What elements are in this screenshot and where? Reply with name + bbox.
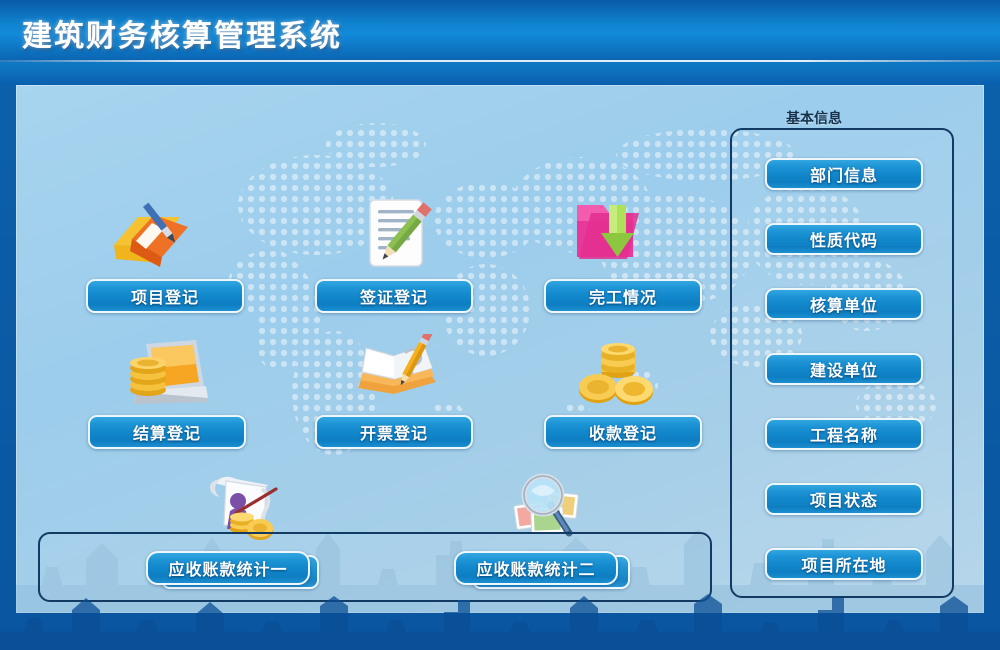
folder-download-icon — [561, 193, 653, 271]
button-label: 签证登记 — [360, 284, 428, 308]
button-label: 开票登记 — [360, 420, 428, 444]
sidebar-item-label: 部门信息 — [810, 162, 878, 186]
sidebar-item-project-status[interactable]: 项目状态 — [765, 483, 923, 515]
sidebar-item-construction-unit[interactable]: 建设单位 — [765, 353, 923, 385]
laptop-coins-icon — [120, 333, 212, 411]
receivables-statistics-box: 应收账款统计一 应收账款统计二 — [38, 532, 712, 602]
button-label: 结算登记 — [133, 420, 201, 444]
sidebar-item-label: 项目状态 — [810, 487, 878, 511]
sidebar-title: 基本信息 — [786, 108, 842, 128]
button-label: 应收账款统计二 — [476, 556, 595, 580]
sidebar-item-project-location[interactable]: 项目所在地 — [765, 548, 923, 580]
document-pencil-icon — [350, 195, 442, 273]
basic-info-panel: 部门信息 性质代码 核算单位 建设单位 工程名称 项目状态 项目所在地 — [730, 128, 954, 598]
page-title: 建筑财务核算管理系统 — [22, 11, 342, 55]
app-header: 建筑财务核算管理系统 — [0, 0, 1000, 62]
button-label: 完工情况 — [589, 284, 657, 308]
sidebar-item-label: 核算单位 — [810, 292, 878, 316]
module-button-invoice-registration[interactable]: 开票登记 — [315, 415, 473, 449]
sidebar-item-project-name[interactable]: 工程名称 — [765, 418, 923, 450]
main-panel: 项目登记 — [16, 85, 984, 613]
sidebar-item-label: 项目所在地 — [801, 552, 886, 576]
button-label: 收款登记 — [589, 420, 657, 444]
module-button-visa-registration[interactable]: 签证登记 — [315, 279, 473, 313]
sidebar-item-nature-code[interactable]: 性质代码 — [765, 223, 923, 255]
stats-button-receivables-one[interactable]: 应收账款统计一 — [146, 551, 310, 585]
header-band — [0, 62, 1000, 85]
folder-pen-icon — [102, 197, 194, 275]
sidebar-item-label: 工程名称 — [810, 422, 878, 446]
gold-coins-icon — [574, 333, 666, 411]
module-button-settlement-registration[interactable]: 结算登记 — [88, 415, 246, 449]
module-button-payment-registration[interactable]: 收款登记 — [544, 415, 702, 449]
sidebar-item-label: 建设单位 — [810, 357, 878, 381]
button-label: 项目登记 — [131, 284, 199, 308]
application-window: 建筑财务核算管理系统 — [0, 0, 1000, 650]
sidebar-item-accounting-unit[interactable]: 核算单位 — [765, 288, 923, 320]
module-button-completion-status[interactable]: 完工情况 — [544, 279, 702, 313]
sidebar-item-department-info[interactable]: 部门信息 — [765, 158, 923, 190]
module-button-project-registration[interactable]: 项目登记 — [86, 279, 244, 313]
sidebar-item-label: 性质代码 — [810, 227, 878, 251]
book-pencil-icon — [350, 333, 442, 411]
button-label: 应收账款统计一 — [168, 556, 287, 580]
stats-button-receivables-two[interactable]: 应收账款统计二 — [454, 551, 618, 585]
